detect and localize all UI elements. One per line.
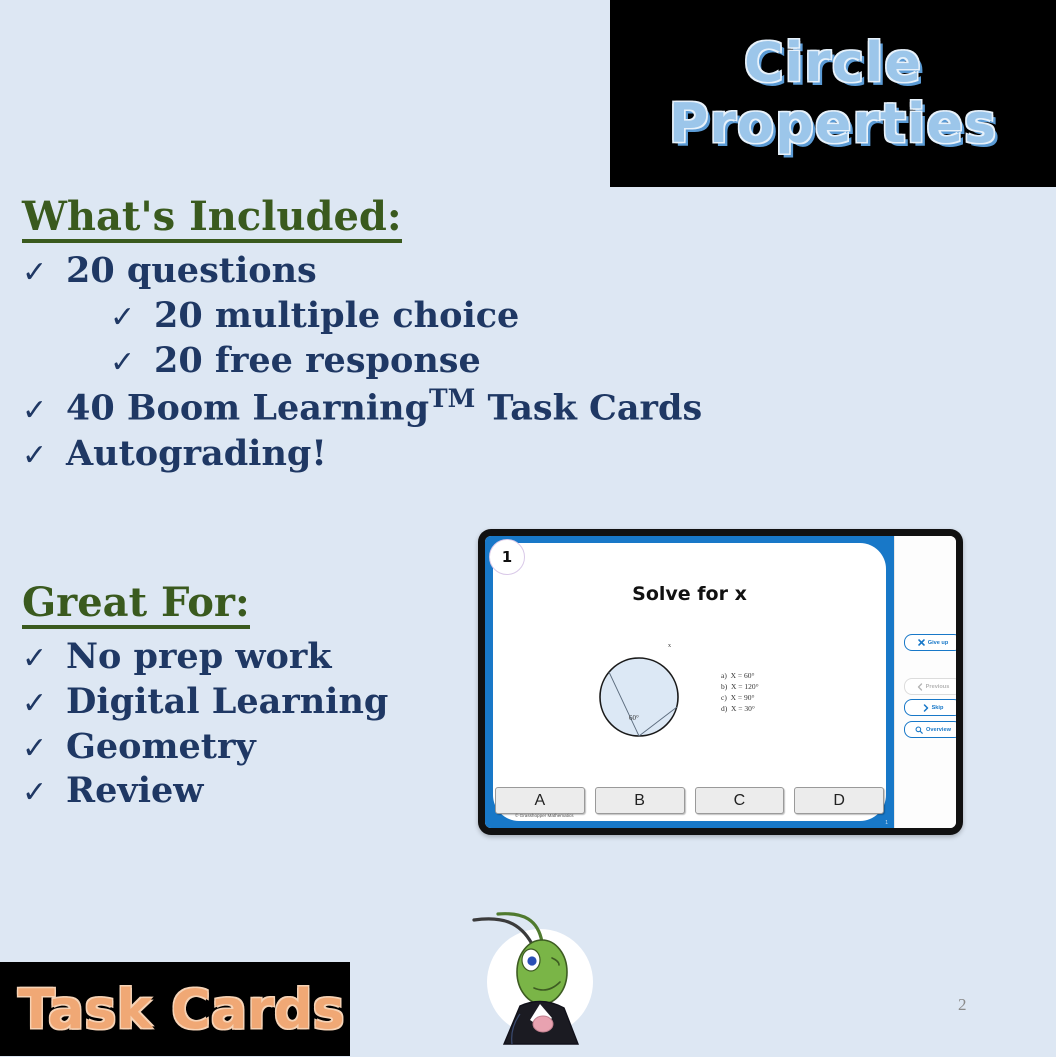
list-item: ✓ 20 free response — [22, 339, 742, 384]
give-up-button[interactable]: Give up — [904, 634, 956, 651]
boom-card-preview: 1 Solve for x 60° x a) X = 60° b) X = 12… — [478, 529, 963, 835]
list-item-label: 20 questions — [66, 249, 317, 294]
boom-card-stage: 1 Solve for x 60° x a) X = 60° b) X = 12… — [485, 536, 894, 828]
copyright-notice: © Grasshopper Mathematics — [515, 813, 574, 818]
checkmark-icon: ✓ — [110, 344, 154, 382]
previous-button[interactable]: Previous — [904, 678, 956, 695]
list-item-label: 20 free response — [154, 339, 481, 384]
overview-label: Overview — [926, 727, 951, 733]
answer-button-a[interactable]: A — [495, 787, 585, 814]
checkmark-icon: ✓ — [22, 774, 66, 812]
grasshopper-mascot-logo — [458, 902, 618, 1052]
list-item: ✓ 20 multiple choice — [22, 294, 742, 339]
skip-button[interactable]: Skip — [904, 699, 956, 716]
checkmark-icon: ✓ — [110, 299, 154, 337]
answer-choices-list: a) X = 60° b) X = 120° c) X = 90° d) X =… — [721, 671, 759, 715]
question-title: Solve for x — [493, 583, 886, 605]
list-item: ✓ 40 Boom LearningTM Task Cards — [22, 383, 742, 431]
search-icon — [915, 726, 923, 734]
unknown-label-x: x — [668, 643, 671, 649]
whats-included-heading: What's Included: — [22, 196, 402, 243]
title-banner: Circle Properties — [610, 0, 1056, 187]
boom-card-canvas: 1 Solve for x 60° x a) X = 60° b) X = 12… — [493, 543, 886, 821]
list-item-label: 40 Boom LearningTM Task Cards — [66, 383, 702, 431]
list-item-label: Digital Learning — [66, 680, 388, 725]
list-item-label: No prep work — [66, 635, 332, 680]
checkmark-icon: ✓ — [22, 640, 66, 678]
list-item-label: Autograding! — [66, 432, 327, 477]
task-cards-banner: Task Cards — [0, 962, 350, 1056]
checkmark-icon: ✓ — [22, 685, 66, 723]
overview-button[interactable]: Overview — [904, 721, 956, 738]
answer-button-d[interactable]: D — [794, 787, 884, 814]
choice-b: b) X = 120° — [721, 682, 759, 693]
great-for-heading: Great For: — [22, 582, 250, 629]
checkmark-icon: ✓ — [22, 392, 66, 430]
trademark-mark: TM — [429, 384, 475, 413]
page-number: 2 — [958, 995, 967, 1015]
whats-included-section: What's Included: ✓ 20 questions ✓ 20 mul… — [22, 196, 742, 477]
boom-card-sidebar: Give up Previous Skip — [894, 536, 956, 828]
checkmark-icon: ✓ — [22, 254, 66, 292]
list-item-label: Geometry — [66, 725, 256, 770]
card-page-number: 1 — [885, 820, 888, 826]
boom-card-inner: 1 Solve for x 60° x a) X = 60° b) X = 12… — [485, 536, 956, 828]
question-number-badge: 1 — [489, 539, 525, 575]
checkmark-icon: ✓ — [22, 437, 66, 475]
task-cards-label: Task Cards — [0, 978, 345, 1041]
list-item-label: Review — [66, 769, 203, 814]
choice-d: d) X = 30° — [721, 704, 759, 715]
previous-label: Previous — [926, 684, 950, 690]
whats-included-list: ✓ 20 questions ✓ 20 multiple choice ✓ 20… — [22, 249, 742, 477]
give-up-label: Give up — [928, 640, 949, 646]
close-icon — [918, 639, 925, 646]
list-item: ✓ 20 questions — [22, 249, 742, 294]
angle-label-60: 60° — [629, 714, 639, 722]
chevron-right-icon — [923, 704, 929, 712]
list-item: ✓ Autograding! — [22, 432, 742, 477]
title-line-2: Properties — [669, 96, 997, 153]
circle-diagram: 60° x — [589, 635, 699, 745]
answer-button-b[interactable]: B — [595, 787, 685, 814]
choice-c: c) X = 90° — [721, 693, 759, 704]
answer-button-row: A B C D — [495, 787, 884, 814]
answer-button-c[interactable]: C — [695, 787, 785, 814]
chevron-left-icon — [917, 683, 923, 691]
title-line-1: Circle — [744, 35, 922, 92]
checkmark-icon: ✓ — [22, 730, 66, 768]
choice-a: a) X = 60° — [721, 671, 759, 682]
skip-label: Skip — [932, 705, 944, 711]
list-item-label: 20 multiple choice — [154, 294, 519, 339]
